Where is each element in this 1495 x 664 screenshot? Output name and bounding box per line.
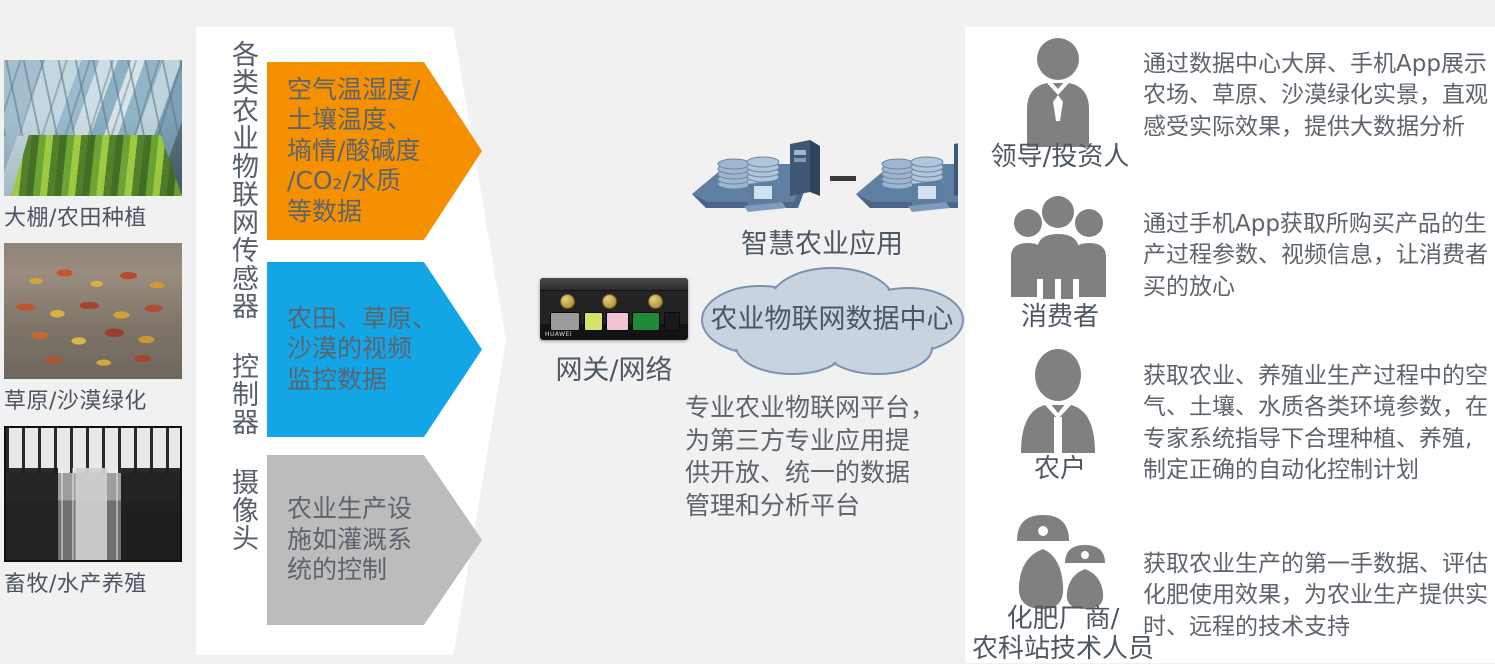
photo-caption: 草原/沙漠绿化: [4, 383, 182, 415]
persona-description: 获取农业生产的第一手数据、评估 化肥使用效果，为农业生产提供实 时、远程的技术支…: [1143, 549, 1493, 643]
photo-caption: 大棚/农田种植: [4, 200, 182, 232]
photo-card-barn: 畜牧/水产养殖: [4, 426, 182, 598]
personas-panel: 领导/投资人 通过数据中心大屏、手机App展示 农场、草原、沙漠绿化实景，直观 …: [965, 27, 1495, 663]
persona-name: 农户: [965, 455, 1155, 485]
sensor-category-vertical-label: 各类农业物联网传感器 控制器 摄像头: [210, 40, 256, 650]
gateway-device-image: HUAWEI: [540, 278, 688, 340]
cloud-label: 农业物联网数据中心: [682, 297, 982, 336]
photo-card-desert: 草原/沙漠绿化: [4, 243, 182, 415]
persona-name: 消费者: [965, 303, 1155, 333]
greenhouse-photo: [4, 60, 182, 196]
technicians-icon: [1003, 505, 1113, 617]
chevron-label: 农业生产设 施如灌溉系 统的控制: [287, 494, 412, 586]
slide-canvas: 大棚/农田种植 草原/沙漠绿化 畜牧/水产养殖 各类农业物联网传感器 控制器 摄…: [0, 0, 1495, 663]
platform-description: 专业农业物联网平台， 为第三方专业应用提 供开放、统一的数据 管理和分析平台: [685, 392, 955, 522]
businessman-icon: [1003, 35, 1113, 147]
persona-description: 通过手机App获取所购买产品的生 产过程参数、视频信息，让消费者 买的放心: [1143, 209, 1493, 303]
source-photo-column: 大棚/农田种植 草原/沙漠绿化 畜牧/水产养殖: [4, 60, 190, 655]
server-cluster-icon: [686, 136, 958, 222]
livestock-barn-photo: [4, 426, 182, 562]
photo-card-greenhouse: 大棚/农田种植: [4, 60, 182, 232]
people-group-icon: [1003, 195, 1113, 307]
servers-label: 智慧农业应用: [686, 222, 958, 261]
desert-greening-photo: [4, 243, 182, 379]
chevron-label: 农田、草原、 沙漠的视频 监控数据: [287, 304, 437, 396]
gateway-brand-text: HUAWEI: [545, 331, 572, 338]
chevron-label: 空气温湿度/ 土壤温度、 墒情/酸碱度 /CO₂/水质 等数据: [287, 75, 420, 228]
gateway-label: 网关/网络: [540, 348, 688, 387]
photo-caption: 畜牧/水产养殖: [4, 566, 182, 598]
persona-description: 获取农业、养殖业生产过程中的空 气、土壤、水质各类环境参数，在 专家系统指导下合…: [1143, 361, 1493, 486]
farmer-icon: [1003, 347, 1113, 459]
persona-name: 领导/投资人: [965, 143, 1155, 173]
persona-description: 通过数据中心大屏、手机App展示 农场、草原、沙漠绿化实景，直观 感受实际效果，…: [1143, 49, 1493, 143]
